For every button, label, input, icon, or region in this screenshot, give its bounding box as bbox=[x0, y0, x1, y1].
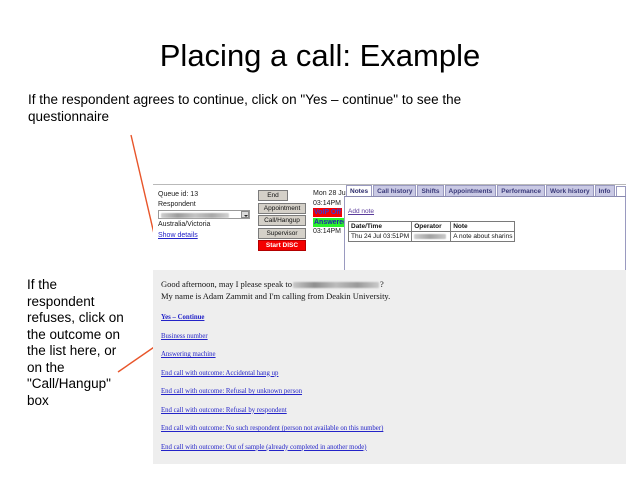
voip-status-badge: VoIP Off bbox=[313, 208, 342, 217]
call-hangup-button[interactable]: Call/Hangup bbox=[258, 215, 306, 226]
outcome-answering-machine[interactable]: Answering machine bbox=[161, 350, 626, 359]
action-button-group: End Appointment Call/Hangup Supervisor S… bbox=[258, 190, 308, 253]
outcome-refusal-unknown-person[interactable]: End call with outcome: Refusal by unknow… bbox=[161, 387, 626, 396]
tab-notes[interactable]: Notes bbox=[346, 185, 372, 196]
outcome-business-number[interactable]: Business number bbox=[161, 332, 626, 341]
redacted-respondent-name bbox=[161, 213, 229, 218]
redacted-operator-name bbox=[414, 234, 446, 239]
cell-note: A note about sharins bbox=[451, 232, 515, 242]
greeting-line2: My name is Adam Zammit and I'm calling f… bbox=[161, 291, 390, 301]
outcome-refusal-respondent[interactable]: End call with outcome: Refusal by respon… bbox=[161, 406, 626, 415]
tab-work-history[interactable]: Work history bbox=[546, 185, 594, 196]
tab-appointments[interactable]: Appointments bbox=[445, 185, 497, 196]
end-button[interactable]: End bbox=[258, 190, 288, 201]
page-title: Placing a call: Example bbox=[0, 38, 640, 74]
script-panel: Good afternoon, may I please speak to? M… bbox=[153, 270, 626, 464]
respondent-label: Respondent bbox=[158, 200, 256, 210]
call-toolbar: Queue id: 13 Respondent Australia/Victor… bbox=[153, 184, 626, 270]
outcome-out-of-sample[interactable]: End call with outcome: Out of sample (al… bbox=[161, 443, 626, 452]
notes-pane: Notes Call history Shifts Appointments P… bbox=[344, 186, 626, 271]
outcome-link-list: Yes – Continue Business number Answering… bbox=[161, 313, 626, 452]
call-script-text: Good afternoon, may I please speak to? M… bbox=[161, 279, 626, 302]
column-header-operator: Operator bbox=[412, 222, 451, 232]
annotation-continue-instruction: If the respondent agrees to continue, cl… bbox=[28, 92, 488, 125]
application-screenshot: Queue id: 13 Respondent Australia/Victor… bbox=[153, 184, 626, 464]
appointment-button[interactable]: Appointment bbox=[258, 203, 306, 214]
table-row[interactable]: Thu 24 Jul 03:51PM A note about sharins bbox=[349, 232, 515, 242]
cell-datetime: Thu 24 Jul 03:51PM bbox=[349, 232, 412, 242]
tab-shifts[interactable]: Shifts bbox=[417, 185, 443, 196]
column-header-note: Note bbox=[451, 222, 515, 232]
chevron-down-icon[interactable] bbox=[241, 211, 249, 218]
add-note-link[interactable]: Add note bbox=[348, 207, 374, 216]
start-disc-button[interactable]: Start DISC bbox=[258, 240, 306, 251]
respondent-select[interactable] bbox=[158, 210, 250, 219]
respondent-pane: Queue id: 13 Respondent Australia/Victor… bbox=[158, 190, 256, 240]
show-details-link[interactable]: Show details bbox=[158, 231, 256, 241]
notes-body: Add note Date/Time Operator Note Thu 24 … bbox=[344, 197, 626, 271]
outcome-yes-continue[interactable]: Yes – Continue bbox=[161, 313, 626, 322]
outcome-no-such-respondent[interactable]: End call with outcome: No such responden… bbox=[161, 424, 626, 433]
tab-info[interactable]: Info bbox=[595, 185, 615, 196]
tab-call-history[interactable]: Call history bbox=[373, 185, 416, 196]
queue-id-label: Queue id: 13 bbox=[158, 190, 256, 200]
outcome-accidental-hang-up[interactable]: End call with outcome: Accidental hang u… bbox=[161, 369, 626, 378]
cell-operator bbox=[412, 232, 451, 242]
annotation-refusal-instruction: If the respondent refuses, click on the … bbox=[27, 277, 125, 409]
column-header-datetime: Date/Time bbox=[349, 222, 412, 232]
timezone-label: Australia/Victoria bbox=[158, 220, 256, 230]
notes-table: Date/Time Operator Note Thu 24 Jul 03:51… bbox=[348, 221, 515, 242]
redacted-respondent-name-script bbox=[293, 282, 379, 288]
tab-bar-filler bbox=[616, 186, 626, 196]
supervisor-button[interactable]: Supervisor bbox=[258, 228, 306, 239]
tab-bar: Notes Call history Shifts Appointments P… bbox=[344, 186, 626, 197]
tab-performance[interactable]: Performance bbox=[497, 185, 545, 196]
greeting-line1-part1: Good afternoon, may I please speak to bbox=[161, 279, 292, 289]
table-header-row: Date/Time Operator Note bbox=[349, 222, 515, 232]
greeting-line1-part2: ? bbox=[380, 279, 384, 289]
